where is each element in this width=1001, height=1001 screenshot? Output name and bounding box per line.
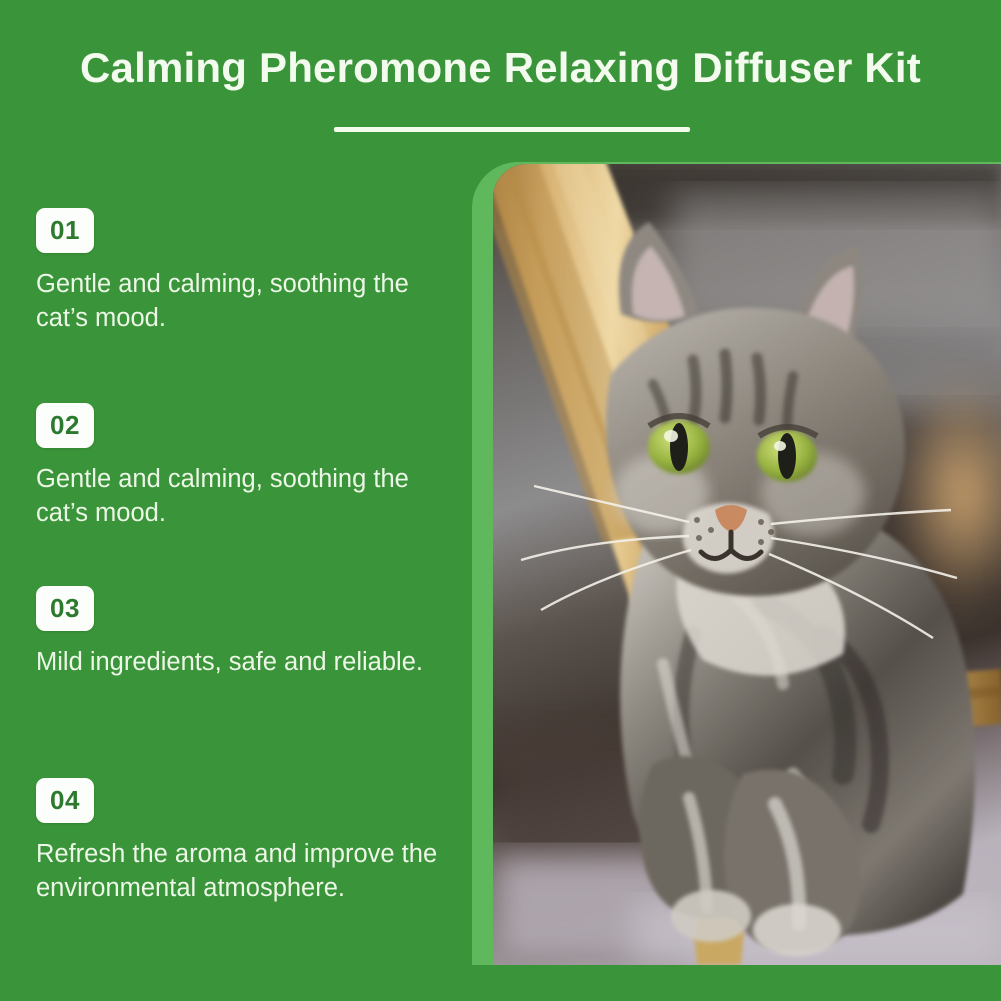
feature-number-badge: 02 — [36, 403, 94, 448]
page-title: Calming Pheromone Relaxing Diffuser Kit — [0, 44, 1001, 92]
feature-item: 01 Gentle and calming, soothing the cat’… — [36, 208, 466, 335]
feature-number-badge: 01 — [36, 208, 94, 253]
feature-item: 04 Refresh the aroma and improve the env… — [36, 778, 466, 905]
product-infographic: Calming Pheromone Relaxing Diffuser Kit … — [0, 0, 1001, 1001]
feature-item: 02 Gentle and calming, soothing the cat’… — [36, 403, 466, 530]
feature-description: Refresh the aroma and improve the enviro… — [36, 837, 456, 905]
title-divider — [334, 127, 690, 132]
feature-description: Gentle and calming, soothing the cat’s m… — [36, 462, 456, 530]
feature-number-badge: 03 — [36, 586, 94, 631]
cat-photo — [493, 164, 1001, 965]
feature-item: 03 Mild ingredients, safe and reliable. — [36, 586, 466, 679]
cat-photo-illustration — [493, 164, 1001, 965]
feature-number-badge: 04 — [36, 778, 94, 823]
feature-description: Gentle and calming, soothing the cat’s m… — [36, 267, 456, 335]
feature-description: Mild ingredients, safe and reliable. — [36, 645, 456, 679]
